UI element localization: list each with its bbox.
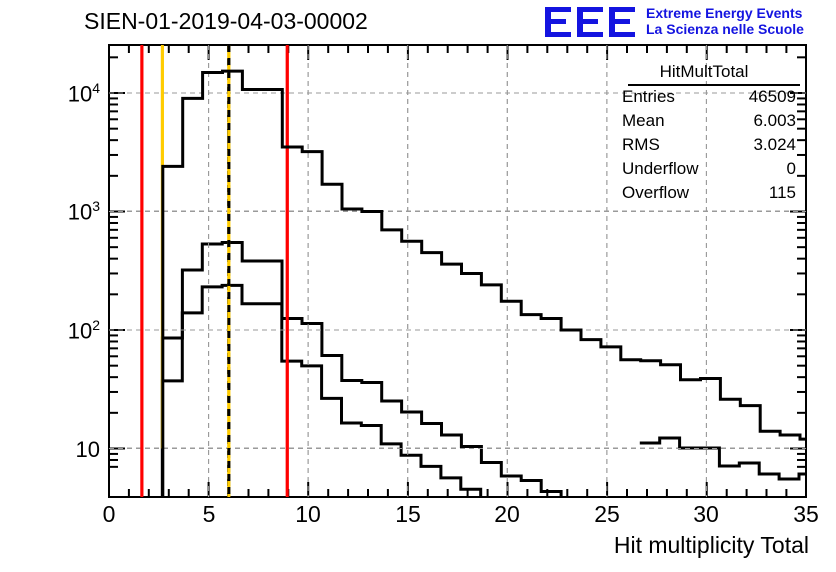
x-tick-35: 35 [786, 501, 826, 528]
y-tick-1e4: 104 [26, 80, 100, 107]
stats-row-value: 46509 [749, 87, 796, 107]
y-tick-10: 10 [26, 437, 100, 463]
stats-row-label: Underflow [622, 159, 699, 179]
y-tick-1e3: 103 [26, 198, 100, 225]
x-tick-10: 10 [288, 501, 328, 528]
stats-row-value: 115 [769, 183, 796, 203]
logo-line-2: La Scienza nelle Scuole [646, 21, 804, 37]
stats-row: Underflow0 [608, 159, 800, 183]
stats-row-label: RMS [622, 135, 660, 155]
stats-row-label: Mean [622, 111, 665, 131]
logo-line-1: Extreme Energy Events [646, 5, 804, 21]
logo-text-block: Extreme Energy Events La Scienza nelle S… [646, 5, 804, 37]
page-title: SIEN-01-2019-04-03-00002 [84, 8, 368, 35]
stats-row-label: Entries [622, 87, 675, 107]
eee-logo: Extreme Energy Events La Scienza nelle S… [543, 3, 833, 43]
x-tick-15: 15 [388, 501, 428, 528]
stats-row-value: 0 [787, 159, 796, 179]
stats-row: Mean6.003 [608, 111, 800, 135]
x-tick-5: 5 [189, 501, 229, 528]
y-tick-1e2: 102 [26, 317, 100, 344]
eee-mark-icon [543, 5, 643, 39]
x-tick-20: 20 [487, 501, 527, 528]
stats-row-value: 3.024 [753, 135, 796, 155]
x-tick-0: 0 [89, 501, 129, 528]
stats-row-value: 6.003 [753, 111, 796, 131]
x-tick-25: 25 [587, 501, 627, 528]
plot-canvas: SIEN-01-2019-04-03-00002 Extreme Energy … [0, 0, 836, 572]
stats-row-label: Overflow [622, 183, 689, 203]
x-axis-title: Hit multiplicity Total [614, 532, 809, 559]
x-tick-30: 30 [686, 501, 726, 528]
stats-title: HitMultTotal [608, 62, 800, 82]
stats-box: HitMultTotal Entries46509Mean6.003RMS3.0… [608, 62, 800, 207]
stats-divider [628, 84, 800, 86]
stats-rows: Entries46509Mean6.003RMS3.024Underflow0O… [608, 87, 800, 207]
stats-row: RMS3.024 [608, 135, 800, 159]
stats-row: Overflow115 [608, 183, 800, 207]
stats-row: Entries46509 [608, 87, 800, 111]
